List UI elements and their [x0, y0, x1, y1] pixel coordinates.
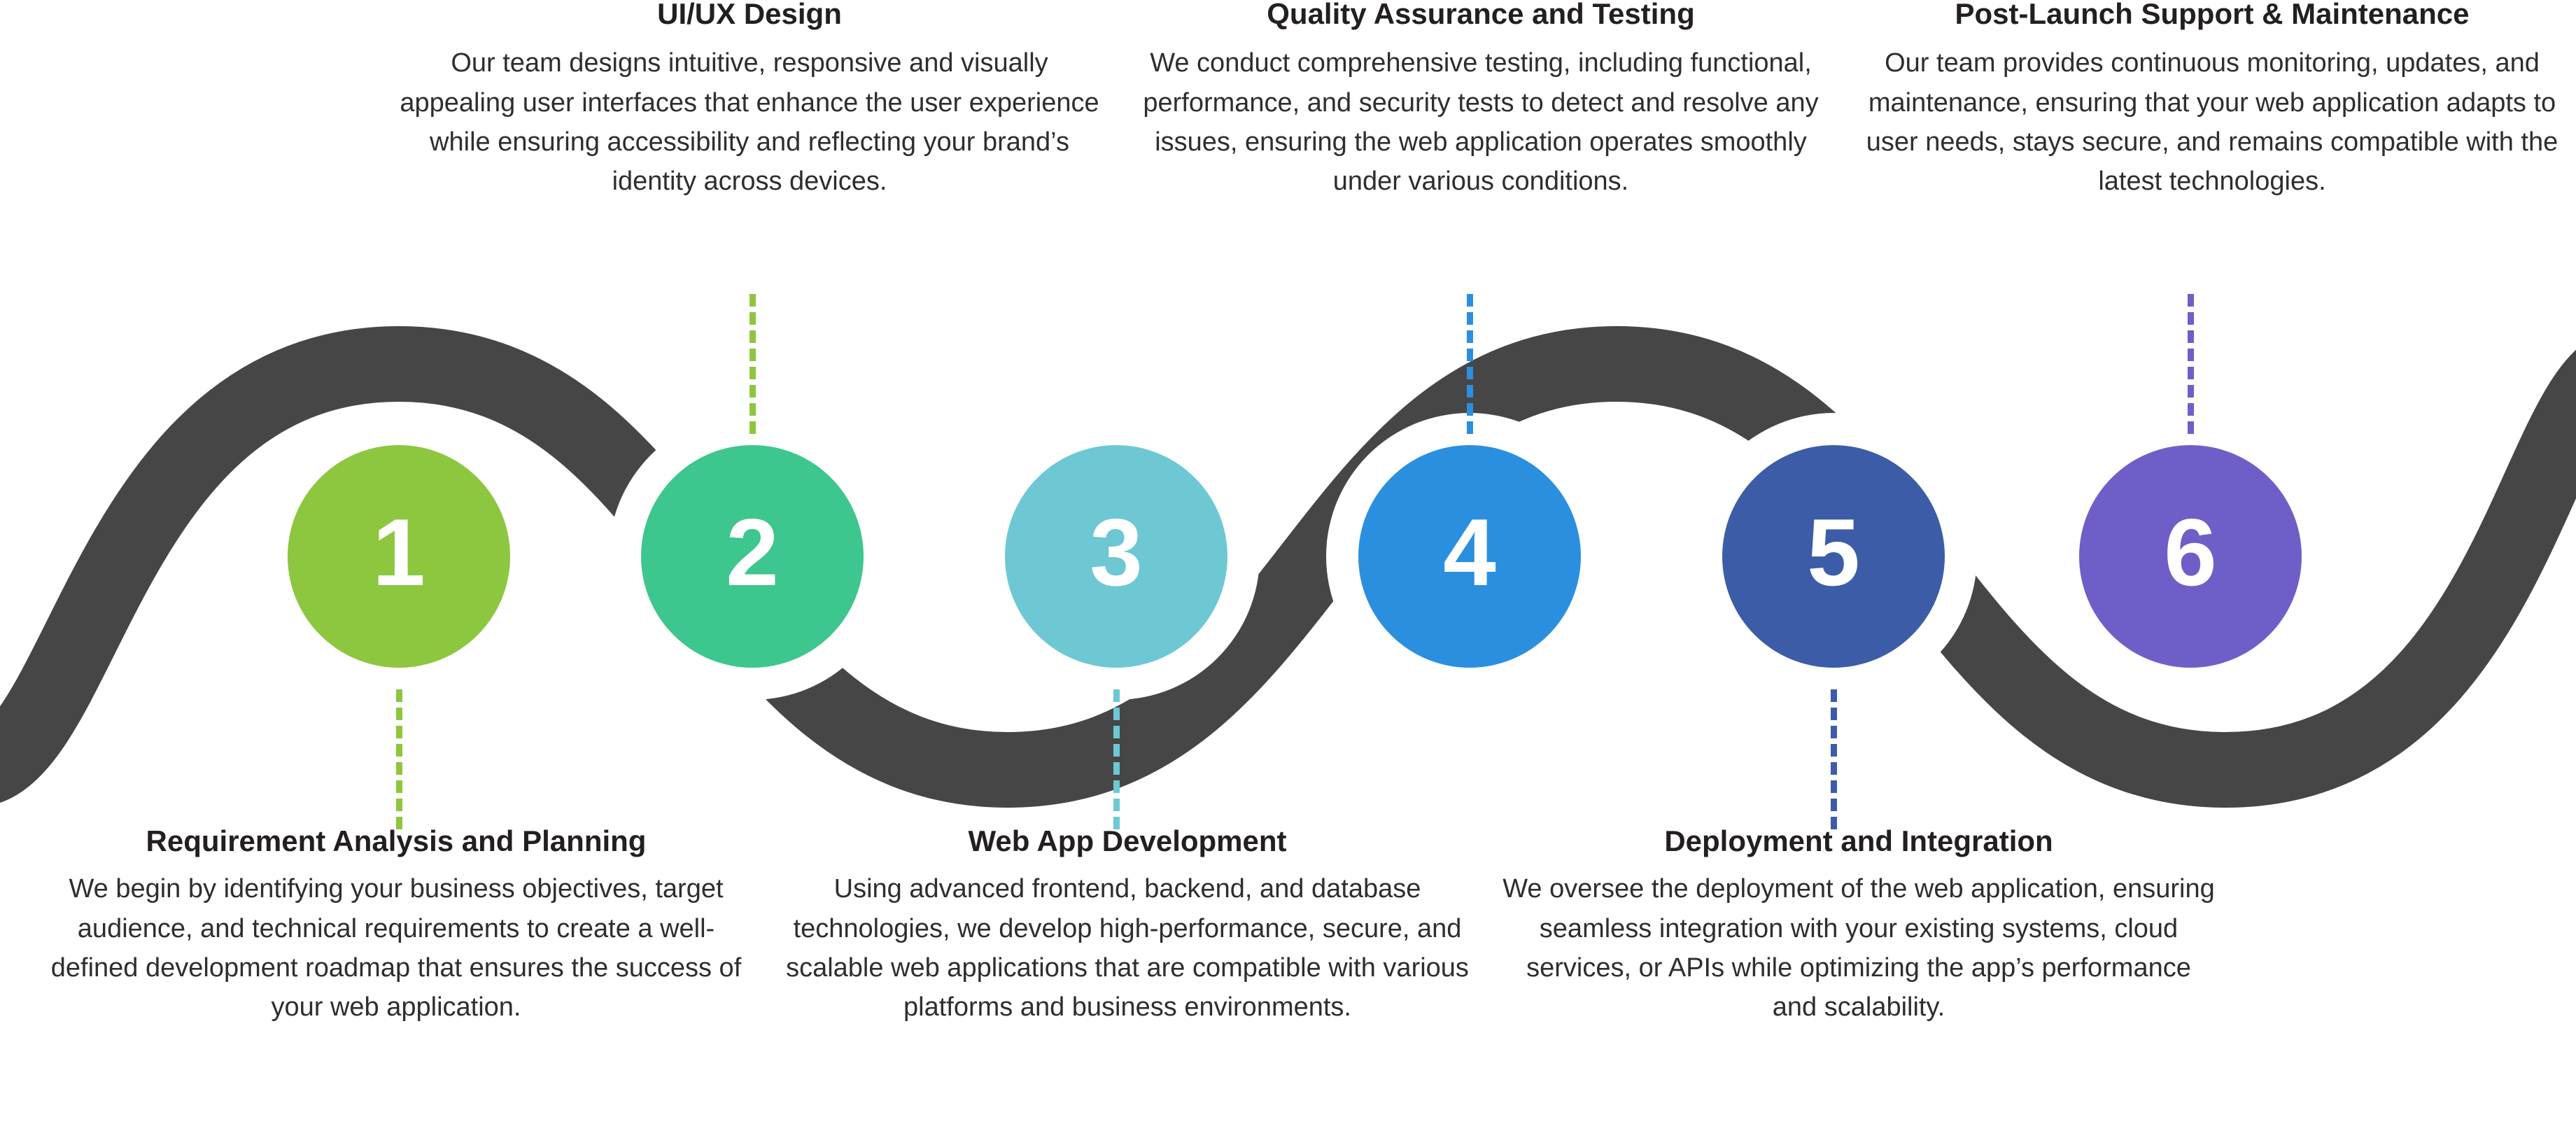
step-body-5: We oversee the deployment of the web app…	[1502, 869, 2216, 1027]
step-text-5: Deployment and Integration We oversee th…	[1502, 824, 2216, 1027]
step-body-6: Our team provides continuous monitoring,…	[1855, 43, 2569, 201]
step-text-1: Requirement Analysis and Planning We beg…	[39, 824, 753, 1027]
step-title-1: Requirement Analysis and Planning	[39, 824, 753, 858]
step-body-3: Using advanced frontend, backend, and da…	[770, 869, 1484, 1027]
step-node-3[interactable]: 3	[1005, 445, 1227, 668]
step-text-2: UI/UX Design Our team designs intuitive,…	[393, 0, 1106, 201]
step-number-5: 5	[1807, 505, 1860, 600]
step-node-1[interactable]: 1	[288, 445, 510, 668]
step-node-4[interactable]: 4	[1358, 445, 1581, 668]
step-body-2: Our team designs intuitive, responsive a…	[393, 43, 1106, 201]
step-text-4: Quality Assurance and Testing We conduct…	[1124, 0, 1838, 201]
step-title-3: Web App Development	[770, 824, 1484, 858]
step-body-4: We conduct comprehensive testing, includ…	[1124, 43, 1838, 201]
step-text-6: Post-Launch Support & Maintenance Our te…	[1855, 0, 2569, 201]
step-title-5: Deployment and Integration	[1502, 824, 2216, 858]
step-text-3: Web App Development Using advanced front…	[770, 824, 1484, 1027]
connector-line-5	[1831, 689, 1837, 829]
connector-line-3	[1113, 689, 1120, 829]
step-number-1: 1	[372, 505, 425, 600]
connector-line-6	[2188, 294, 2194, 434]
step-node-2[interactable]: 2	[641, 445, 864, 668]
step-title-2: UI/UX Design	[393, 0, 1106, 31]
step-number-4: 4	[1443, 505, 1496, 600]
step-body-1: We begin by identifying your business ob…	[39, 869, 753, 1027]
step-title-4: Quality Assurance and Testing	[1124, 0, 1838, 31]
step-title-6: Post-Launch Support & Maintenance	[1855, 0, 2569, 31]
step-number-3: 3	[1090, 505, 1143, 600]
connector-line-2	[749, 294, 756, 434]
step-number-6: 6	[2164, 505, 2217, 600]
step-number-2: 2	[726, 505, 779, 600]
step-node-5[interactable]: 5	[1722, 445, 1945, 668]
connector-line-1	[396, 689, 402, 829]
connector-line-4	[1467, 294, 1473, 434]
step-node-6[interactable]: 6	[2079, 445, 2302, 668]
infographic-canvas: 1 2 3 4 5 6 UI/UX Design Our team design…	[0, 0, 2576, 1124]
